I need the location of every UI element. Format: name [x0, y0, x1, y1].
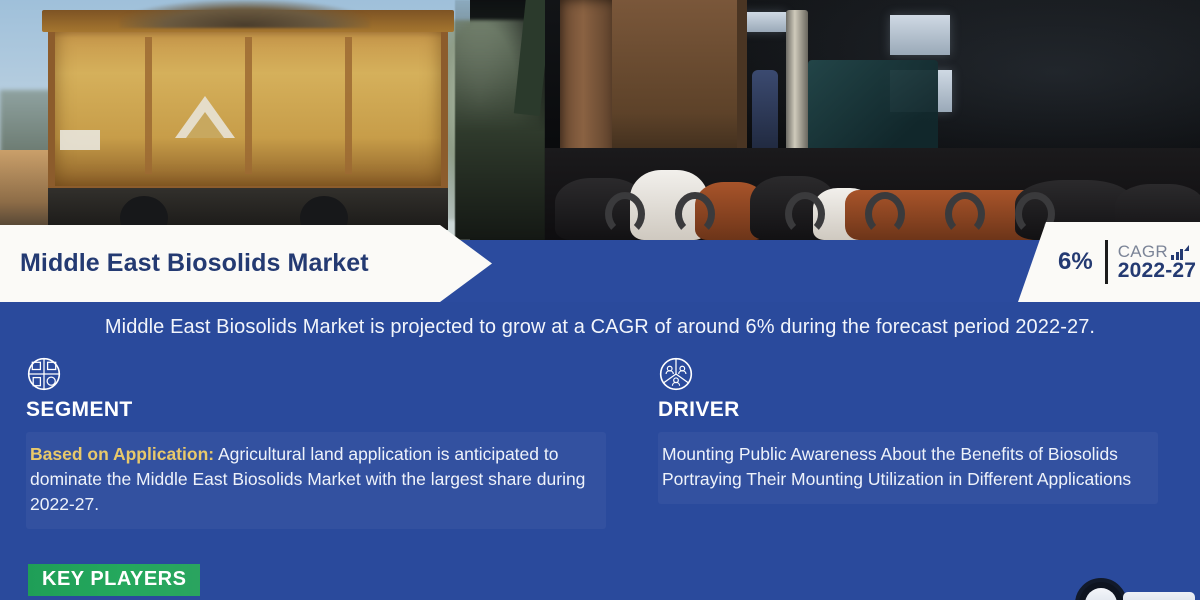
subtitle-banner: Middle East Biosolids Market is projecte… [0, 302, 1200, 352]
cattle-collar [945, 192, 985, 236]
truck-load-dirt [120, 0, 370, 28]
page-title: Middle East Biosolids Market [20, 249, 369, 278]
section-panel-segment: Based on Application: Agricultural land … [26, 432, 606, 529]
section-body-segment: Based on Application: Agricultural land … [30, 442, 594, 517]
segment-label: Based on Application: [30, 444, 214, 464]
people-group-circle-icon [658, 356, 694, 392]
title-ribbon: Middle East Biosolids Market [0, 225, 492, 302]
segment-grid-globe-icon [26, 356, 62, 392]
key-players-badge: KEY PLAYERS [28, 564, 200, 596]
section-body-driver: Mounting Public Awareness About the Bene… [662, 442, 1146, 492]
dump-truck-body [48, 18, 448, 193]
infographic-root: Middle East Biosolids Market 6% CAGR 202… [0, 0, 1200, 600]
truck-plate [60, 130, 100, 150]
bar-chart-growth-icon [1171, 245, 1188, 260]
cagr-period: 2022-27 [1118, 260, 1196, 281]
barn-door [612, 0, 747, 162]
truck-chassis [48, 188, 448, 230]
sections-row: SEGMENT Based on Application: Agricultur… [0, 356, 1200, 546]
section-heading-driver: DRIVER [658, 398, 1158, 422]
section-heading-segment: SEGMENT [26, 398, 606, 422]
cagr-percent: 6% [1058, 248, 1093, 276]
section-driver: DRIVER Mounting Public Awareness About t… [658, 356, 1158, 504]
cattle-collar [865, 192, 905, 236]
cagr-label: CAGR [1118, 243, 1168, 260]
cattle-collar [605, 192, 645, 236]
key-players-heading: KEY PLAYERS [42, 568, 186, 590]
hero-photo [0, 0, 1200, 240]
barn-window [890, 15, 950, 55]
cagr-divider [1105, 240, 1108, 284]
partner-logo [1075, 578, 1131, 600]
barn-post [560, 0, 618, 165]
cattle-collar [675, 192, 715, 236]
logo-wordmark [1123, 592, 1195, 600]
section-segment: SEGMENT Based on Application: Agricultur… [26, 356, 606, 529]
subtitle-text: Middle East Biosolids Market is projecte… [0, 316, 1200, 339]
section-panel-driver: Mounting Public Awareness About the Bene… [658, 432, 1158, 504]
cattle-collar [785, 192, 825, 236]
hazard-triangle-inner [186, 112, 224, 138]
